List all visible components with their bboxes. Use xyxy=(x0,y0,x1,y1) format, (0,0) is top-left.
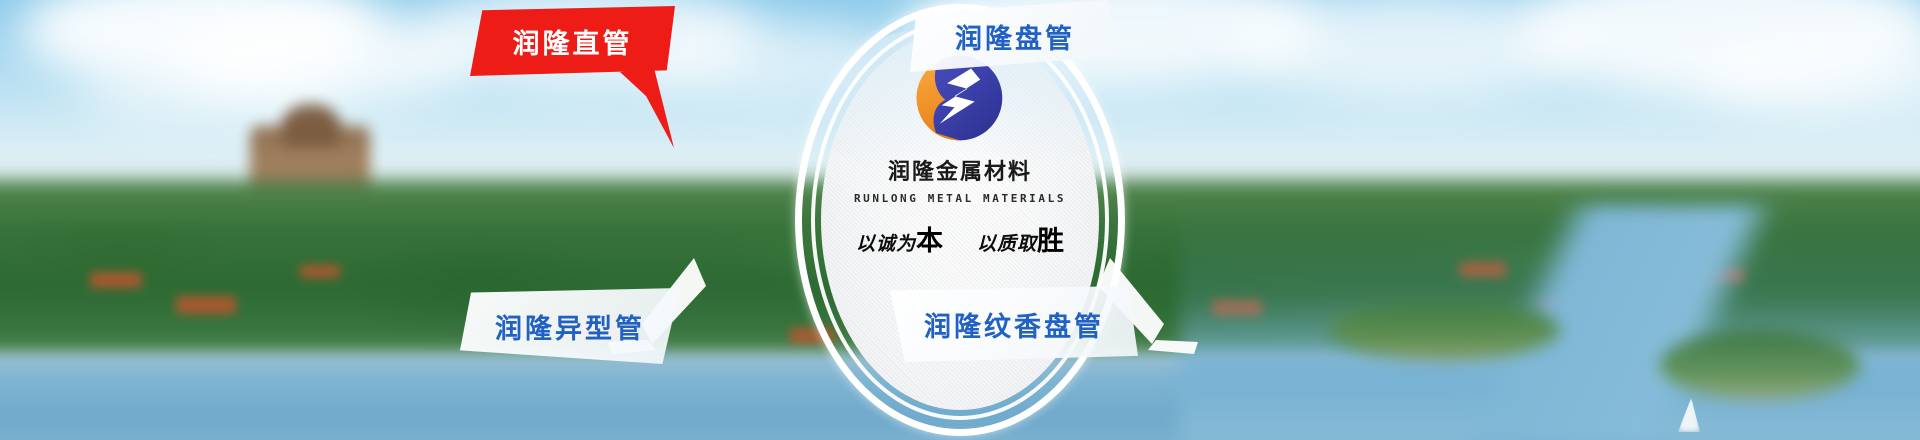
logo-block: 润隆金属材料 RUNLONG METAL MATERIALS xyxy=(795,52,1125,205)
slogan-left-prefix: 以诚为 xyxy=(856,229,916,256)
label-straight-pipe-text: 润隆直管 xyxy=(513,22,633,61)
slogan-left-emphasis: 本 xyxy=(916,226,943,256)
label-coil-pipe-text: 润隆盘管 xyxy=(955,17,1075,56)
label-straight-pipe[interactable]: 润隆直管 xyxy=(470,6,675,76)
slogan-right-emphasis: 胜 xyxy=(1037,226,1064,256)
company-name-cn: 润隆金属材料 xyxy=(795,154,1125,186)
pagoda-roof xyxy=(282,104,340,146)
rooftop xyxy=(300,265,340,278)
rooftop xyxy=(90,272,142,288)
label-textured-coil-text: 润隆纹香盘管 xyxy=(924,305,1104,344)
company-name-en: RUNLONG METAL MATERIALS xyxy=(795,192,1125,205)
company-slogan: 以诚为本以质取胜 xyxy=(795,219,1125,258)
slogan-right-prefix: 以质取 xyxy=(977,229,1037,256)
label-textured-coil[interactable]: 润隆纹香盘管 xyxy=(890,286,1138,362)
hero-banner: 润隆金属材料 RUNLONG METAL MATERIALS 以诚为本以质取胜 … xyxy=(0,0,1920,440)
island-shape xyxy=(1330,300,1560,360)
label-shaped-pipe-text: 润隆异型管 xyxy=(495,307,645,346)
rooftop xyxy=(176,296,236,314)
center-emblem: 润隆金属材料 RUNLONG METAL MATERIALS 以诚为本以质取胜 xyxy=(795,4,1125,436)
island-shape xyxy=(1660,330,1860,400)
